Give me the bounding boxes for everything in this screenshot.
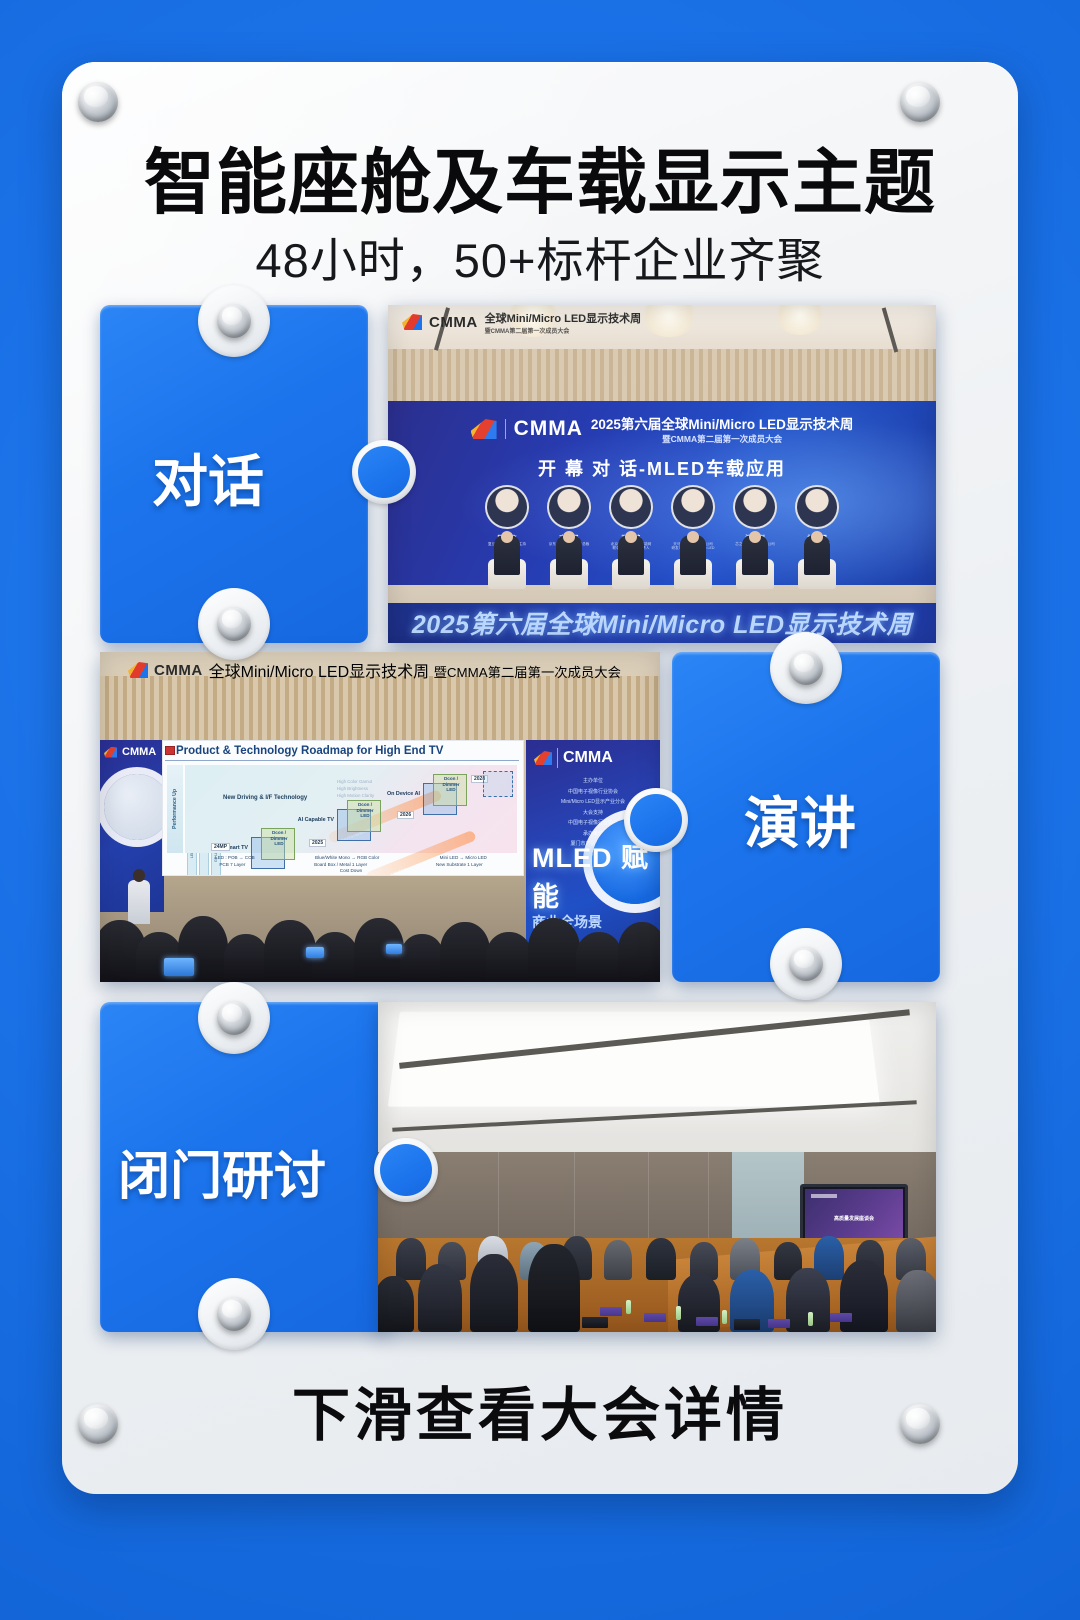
left-banner-circle	[104, 774, 164, 840]
slide-logo-icon	[165, 746, 175, 755]
photo-opening-panel[interactable]: CMMA 全球Mini/Micro LED显示技术周 暨CMMA第二届第一次成员…	[388, 305, 936, 643]
piece1-tab-right	[352, 440, 416, 504]
audience-phone-screen	[306, 947, 324, 958]
keynote-wood-slats	[100, 676, 660, 740]
slide-footer-row-3: Cost Down	[185, 868, 517, 873]
speaker-avatar	[795, 485, 839, 529]
backdrop-brand: CMMA	[514, 417, 583, 441]
slide-year-2025: 2025	[309, 839, 326, 847]
piece1-screw-bottom	[217, 607, 251, 641]
slide-footer-cell: Cost Down	[340, 868, 362, 873]
name-card	[830, 1313, 852, 1322]
backdrop-logo-icon	[471, 419, 497, 439]
slide-feature-1: High Color Gamut	[337, 779, 372, 784]
slide-footer-cell: New Substrate 1 Layer	[436, 862, 483, 867]
piece1-screw-top	[217, 304, 251, 338]
piece1-notch-bottom	[198, 588, 270, 660]
cmma-wordmark: CMMA	[154, 662, 203, 679]
slide-footer-cell: PCB 7 Layer	[219, 862, 245, 867]
backdrop-header: CMMA 2025第六届全球Mini/Micro LED显示技术周 暨CMMA第…	[388, 413, 936, 445]
piece2-screw-bottom	[789, 947, 823, 981]
piece3-screw-bottom	[217, 1297, 251, 1331]
water-bottle	[808, 1312, 813, 1326]
slide-footer: LED : POB → COB Blue/White Mono → RGB Co…	[185, 854, 517, 873]
piece3-notch-bottom	[198, 1278, 270, 1350]
panelist-seat	[609, 529, 653, 589]
panelist-seat-row	[388, 529, 936, 589]
speaker-avatar	[547, 485, 591, 529]
right-banner-header: CMMA	[534, 748, 613, 768]
piece3-tab-right-inner	[380, 1144, 432, 1196]
slide-y-axis-label: Performance Up	[167, 765, 183, 853]
slide-title: Product & Technology Roadmap for High En…	[176, 745, 443, 757]
audience-phone-screen	[386, 944, 402, 954]
slide-future-placeholder	[483, 771, 513, 797]
board-screw-top-left	[78, 82, 118, 122]
panelist-seat	[485, 529, 529, 589]
right-banner-divider	[557, 748, 558, 768]
piece-label-closed-seminar: 闭门研讨	[118, 1134, 326, 1209]
piece1-tab-right-inner	[358, 446, 410, 498]
piece3-screw-top	[217, 1001, 251, 1035]
right-banner-brand: CMMA	[563, 749, 613, 767]
keynote-banner-line1: 全球Mini/Micro LED显示技术周	[209, 664, 429, 681]
panelist-seat	[671, 529, 715, 589]
slide-footer-cell: Blue/White Mono → RGB Color	[315, 855, 379, 860]
slide-plot-area: New Driving & I/F Technology High Color …	[185, 765, 517, 853]
keynote-top-banner: CMMA 全球Mini/Micro LED显示技术周 暨CMMA第二届第一次成员…	[128, 658, 621, 682]
slide-feature-3: High Motion Clarity	[337, 793, 374, 798]
water-bottle	[722, 1310, 727, 1324]
board-screw-top-right	[900, 82, 940, 122]
stage-front-banner-text: 2025第六届全球Mini/Micro LED显示技术周	[412, 605, 912, 641]
piece1-notch-top	[198, 285, 270, 357]
audience-phone-screen	[164, 958, 194, 976]
piece2-notch-bottom	[770, 928, 842, 1000]
slide-footer-row-2: PCB 7 Layer Board Box / Metal 1 Layer Ne…	[185, 862, 517, 867]
backdrop-title: 2025第六届全球Mini/Micro LED显示技术周	[591, 413, 854, 433]
hall-banner-line1: 全球Mini/Micro LED显示技术周	[485, 313, 641, 325]
piece2-tab-left-inner	[630, 794, 682, 846]
left-banner-brand: CMMA	[122, 746, 156, 758]
panelist-seat	[795, 529, 839, 589]
presenter-head	[133, 869, 145, 882]
name-card	[696, 1317, 718, 1326]
cmma-logo-icon	[534, 751, 552, 765]
photo-closed-door-roundtable[interactable]: 高质量发展座谈会	[378, 1002, 936, 1332]
panelist-seat	[547, 529, 591, 589]
panelist-seat	[733, 529, 777, 589]
cmma-logo-icon	[402, 314, 422, 330]
slide-node-label: On Device AI	[387, 791, 420, 797]
cmma-wordmark: CMMA	[429, 314, 478, 331]
page-subtitle: 48小时，50+标杆企业齐聚	[0, 222, 1080, 291]
piece3-tab-right	[374, 1138, 438, 1202]
keynote-audience	[100, 898, 660, 982]
laptop	[582, 1317, 608, 1328]
cmma-logo-icon	[104, 747, 117, 758]
slide-footer-cell: LED : POB → COB	[215, 855, 255, 860]
slide-node-box-text: Dcon / Dimmer LED	[349, 802, 381, 819]
roadmap-slide: Product & Technology Roadmap for High En…	[162, 740, 524, 876]
slide-rule	[165, 760, 519, 761]
keynote-banner-line2: 暨CMMA第二届第一次成员大会	[434, 665, 621, 680]
name-card	[600, 1307, 622, 1316]
laptop	[734, 1319, 760, 1330]
backdrop-subtitle: 暨CMMA第二届第一次成员大会	[591, 433, 854, 445]
slide-node-on-device-ai: On Device AI Dcon / Dimmer LED	[423, 783, 473, 819]
hall-banner-text: 全球Mini/Micro LED显示技术周 暨CMMA第二届第一次成员大会	[485, 310, 641, 335]
slide-note-24mp: 24MP	[211, 843, 230, 851]
slide-footer-cell: Mini LED → Micro LED	[440, 855, 487, 860]
scroll-cta-text: 下滑查看大会详情	[0, 1368, 1080, 1452]
piece2-notch-top	[770, 632, 842, 704]
name-card	[644, 1313, 666, 1322]
backdrop-session-title: 开 幕 对 话-MLED车载应用	[388, 455, 936, 481]
water-bottle	[626, 1300, 631, 1314]
photo-keynote-roadmap[interactable]: CMMA 全球Mini/Micro LED显示技术周 暨CMMA第二届第一次成员…	[100, 652, 660, 982]
hall-banner-line2: 暨CMMA第二届第一次成员大会	[485, 326, 641, 335]
piece3-notch-top	[198, 982, 270, 1054]
piece2-screw-top	[789, 651, 823, 685]
name-card	[768, 1319, 790, 1328]
piece2-tab-left	[624, 788, 688, 852]
cmma-logo-icon	[128, 662, 148, 678]
backdrop-title-group: 2025第六届全球Mini/Micro LED显示技术周 暨CMMA第二届第一次…	[591, 413, 854, 445]
slide-footer-row-1: LED : POB → COB Blue/White Mono → RGB Co…	[185, 855, 517, 860]
slide-annotation: New Driving & I/F Technology	[223, 795, 307, 801]
host-line-1: 主办单位	[526, 776, 660, 787]
stage-front-banner: 2025第六届全球Mini/Micro LED显示技术周	[388, 603, 936, 643]
piece-label-dialogue: 对话	[152, 437, 264, 518]
keynote-banner-text: 全球Mini/Micro LED显示技术周 暨CMMA第二届第一次成员大会	[209, 658, 621, 682]
speaker-avatar	[671, 485, 715, 529]
water-bottle	[676, 1306, 681, 1320]
page-title: 智能座舱及车载显示主题	[0, 126, 1080, 228]
slide-feature-2: High Brightness	[337, 786, 368, 791]
piece-label-presentation: 演讲	[744, 779, 856, 860]
speaker-avatar	[733, 485, 777, 529]
slide-node-box-text: Dcon / Dimmer LED	[263, 830, 295, 847]
hall-top-banner: CMMA 全球Mini/Micro LED显示技术周 暨CMMA第二届第一次成员…	[402, 309, 641, 335]
backdrop-divider	[505, 419, 506, 439]
left-banner-header: CMMA	[104, 746, 156, 758]
slide-node-label: AI Capable TV	[298, 817, 334, 823]
slide-node-box-text: Dcon / Dimmer LED	[435, 776, 467, 793]
slide-year-2026: 2026	[397, 811, 414, 819]
slide-node-ai-capable-tv: AI Capable TV Dcon / Dimmer LED	[337, 809, 387, 845]
speaker-avatar	[609, 485, 653, 529]
speaker-avatar	[485, 485, 529, 529]
slide-footer-cell: Board Box / Metal 1 Layer	[314, 862, 367, 867]
